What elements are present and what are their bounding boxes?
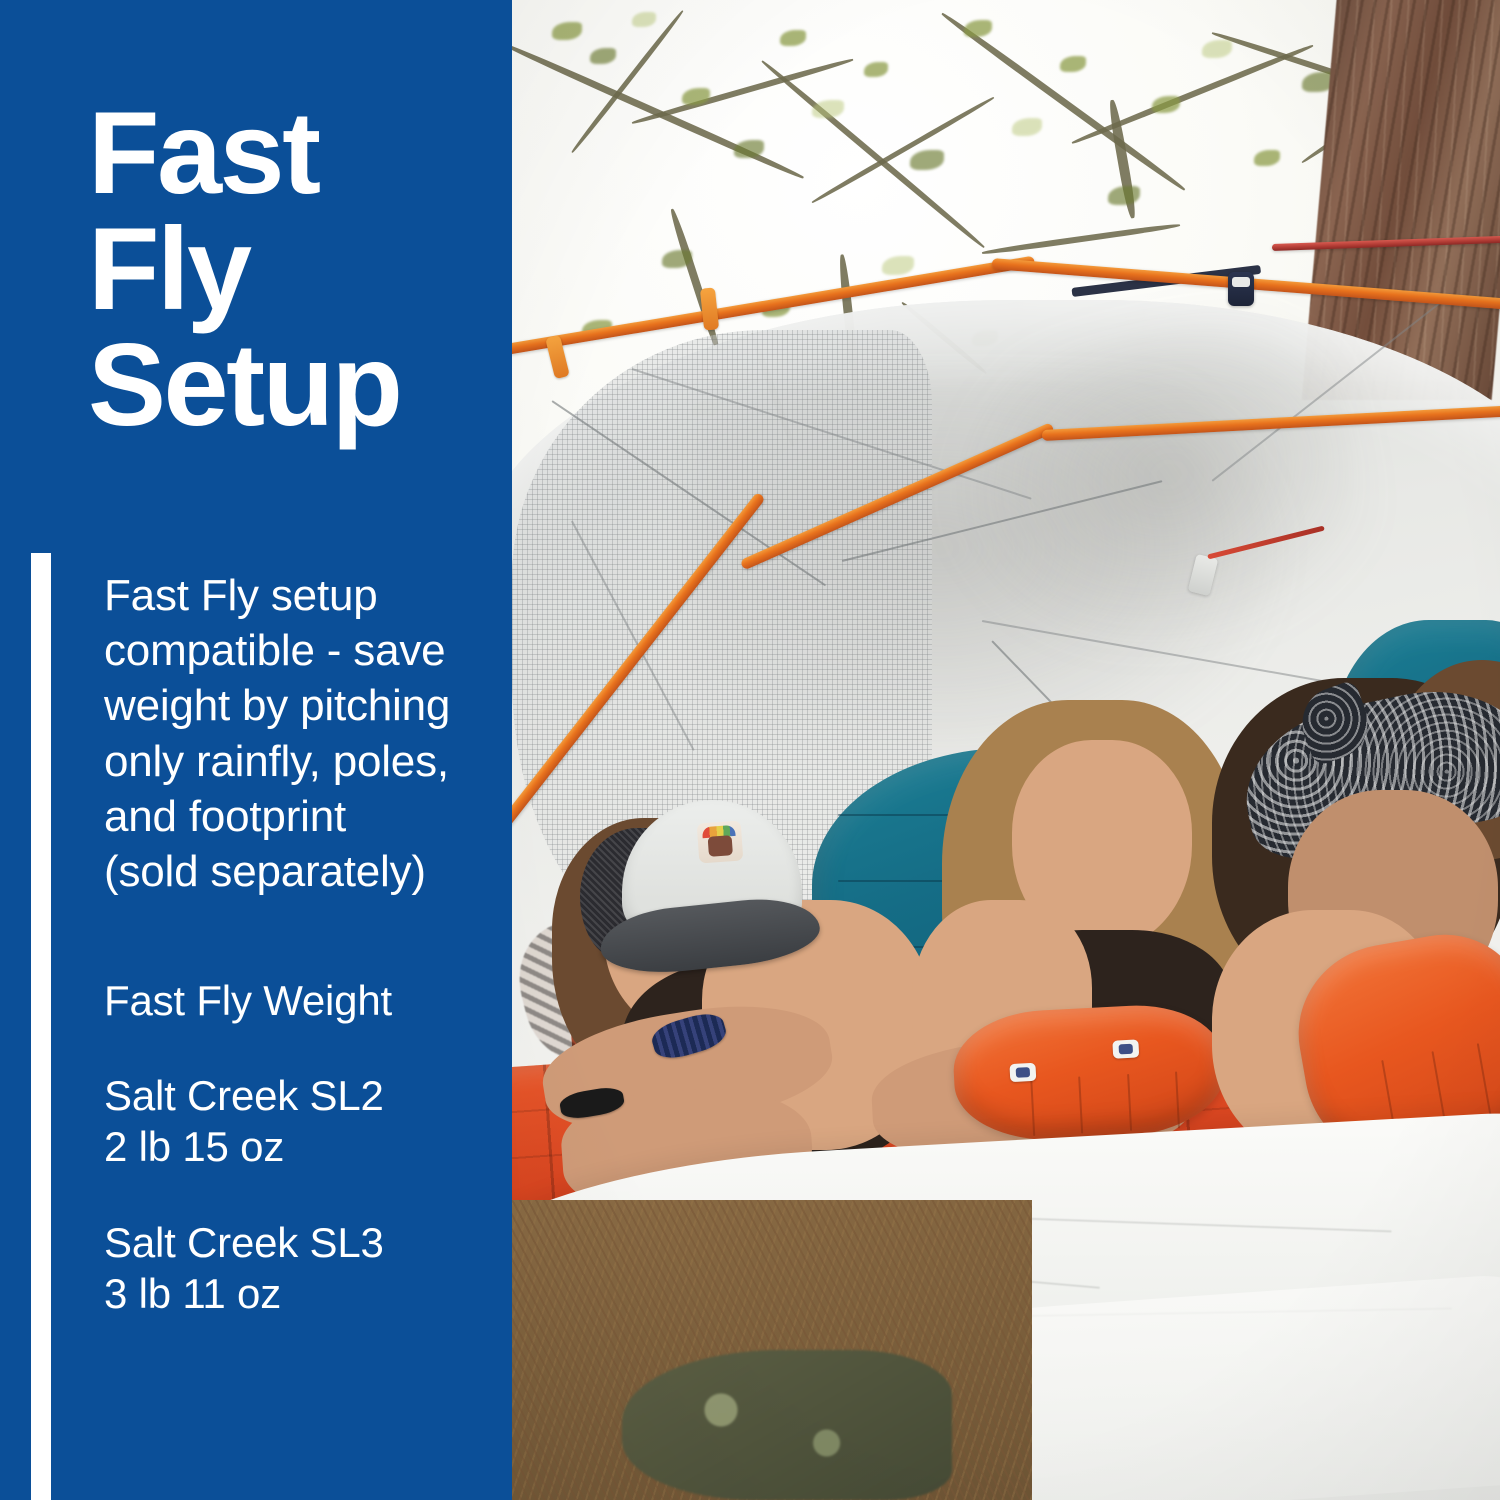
- spec-list: Fast Fly Weight Salt Creek SL2 2 lb 15 o…: [104, 975, 504, 1319]
- lichen-rock: [622, 1350, 952, 1500]
- cap-patch-rainbow-icon: [697, 821, 744, 864]
- spec-item-value: 3 lb 11 oz: [104, 1268, 504, 1319]
- headline-line-2: Fly: [88, 211, 498, 327]
- headline-line-1: Fast: [88, 95, 498, 211]
- spec-item-name: Salt Creek SL2: [104, 1070, 504, 1121]
- page-title: Fast Fly Setup: [88, 95, 498, 442]
- spec-item-name: Salt Creek SL3: [104, 1217, 504, 1268]
- accent-bar: [31, 553, 51, 1500]
- description-line-3: weight by pitching: [104, 678, 504, 733]
- spec-item: Salt Creek SL2 2 lb 15 oz: [104, 1070, 504, 1172]
- description-text: Fast Fly setup compatible - save weight …: [104, 568, 504, 899]
- description-line-6: (sold separately): [104, 844, 504, 899]
- description-line-2: compatible - save: [104, 623, 504, 678]
- info-panel: Fast Fly Setup Fast Fly setup compatible…: [0, 0, 512, 1500]
- spec-item-value: 2 lb 15 oz: [104, 1121, 504, 1172]
- spec-list-heading: Fast Fly Weight: [104, 975, 504, 1026]
- product-feature-poster: Fast Fly Setup Fast Fly setup compatible…: [0, 0, 1500, 1500]
- pillow-valve-icon: [1009, 1063, 1036, 1082]
- pole-hub: [1228, 272, 1254, 306]
- product-lifestyle-photo: [512, 0, 1500, 1500]
- spec-item: Salt Creek SL3 3 lb 11 oz: [104, 1217, 504, 1319]
- description-line-1: Fast Fly setup: [104, 568, 504, 623]
- description-line-4: only rainfly, poles,: [104, 734, 504, 789]
- pillow-valve-icon: [1112, 1039, 1139, 1058]
- description-line-5: and footprint: [104, 789, 504, 844]
- headline-line-3: Setup: [88, 327, 498, 443]
